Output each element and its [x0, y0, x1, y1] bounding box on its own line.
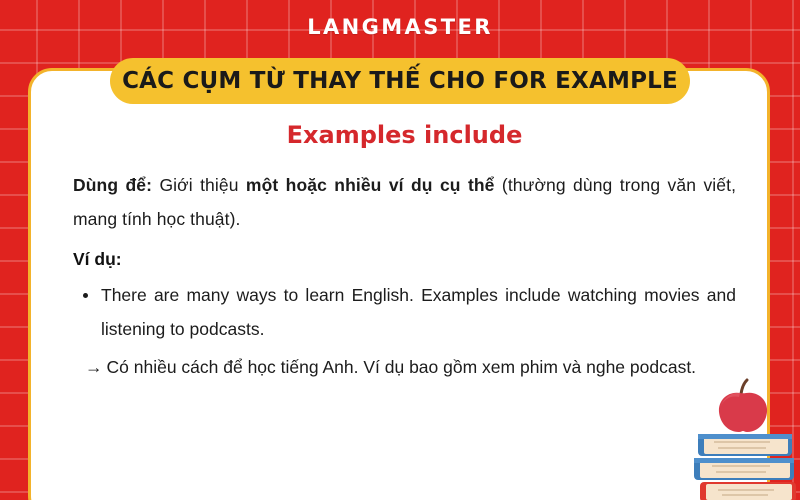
- card-content: Examples include Dùng để: Giới thiệu một…: [28, 68, 770, 500]
- brand-logo: LANGMASTER: [0, 14, 800, 40]
- example-list: There are many ways to learn English. Ex…: [73, 278, 736, 346]
- translation-text: Có nhiều cách để học tiếng Anh. Ví dụ ba…: [107, 357, 697, 377]
- books-and-apple-illustration: [694, 378, 800, 500]
- section-heading: Examples include: [73, 120, 736, 150]
- usage-label: Dùng để:: [73, 175, 152, 195]
- usage-bold-phrase: một hoặc nhiều ví dụ cụ thể: [246, 175, 495, 195]
- arrow-icon: →: [85, 357, 107, 377]
- slide-canvas: LANGMASTER CÁC CỤM TỪ THAY THẾ CHO FOR E…: [0, 0, 800, 500]
- example-label: Ví dụ:: [73, 242, 736, 276]
- list-item: There are many ways to learn English. Ex…: [99, 278, 736, 346]
- translation-line: →Có nhiều cách để học tiếng Anh. Ví dụ b…: [73, 350, 725, 384]
- usage-paragraph: Dùng để: Giới thiệu một hoặc nhiều ví dụ…: [73, 168, 736, 236]
- usage-text-2: (thường dùng: [502, 175, 613, 195]
- usage-text-1: Giới thiệu: [159, 175, 238, 195]
